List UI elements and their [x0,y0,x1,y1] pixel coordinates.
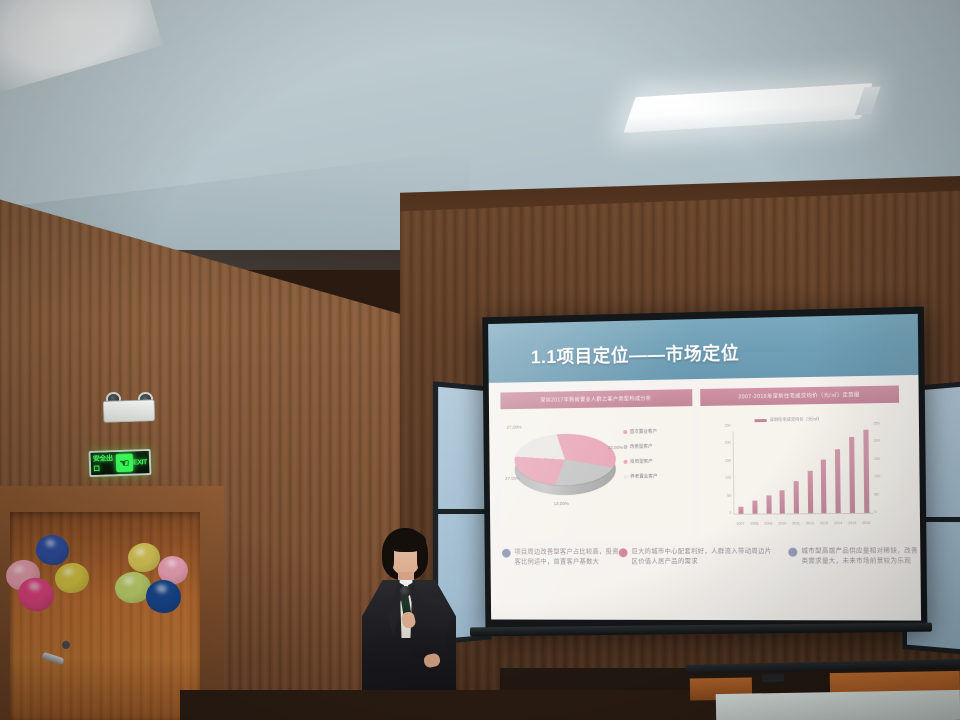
bar-x-tick: 2016 [862,521,870,525]
bar-x-tick: 2008 [750,522,758,526]
desk-object [762,674,784,683]
podium-front-panel [716,690,960,720]
bullet-column-2: 巨大的城市中心配套利好，人群流入带动周边片区价值人居产品的需求 [619,547,779,567]
pie-legend-label-0: 首次置业客户 [630,429,657,435]
bar-x-tick: 2015 [848,521,856,525]
pie-chart: 27.00% 27.00% 13.00% 33.00% [510,417,620,509]
bar-panel-body: 深圳住宅成交均价（元/㎡） 050100150200250 0501001502… [700,403,900,537]
bullet-column-3: 城市型高端产品供应量相对稀缺，改善类需求量大，未来市场前景较为乐观 [788,546,921,567]
floor [180,690,740,720]
bullet-text-3: 城市型高端产品供应量相对稀缺，改善类需求量大，未来市场前景较为乐观 [801,546,921,567]
bar-x-tick: 2013 [820,521,828,525]
bar-2011 [794,481,799,513]
pie-legend: 首次置业客户 改善型客户 投资型客户 [623,429,657,489]
presentation-room-photo: 安全出口 ☜ EXIT 1.1项目定位——市场定位 [0,0,960,720]
pie-label-3: 33.00% [608,445,623,450]
exit-sign-face: 安全出口 ☜ EXIT [91,451,150,475]
bar-chart-x-axis: 2007200820092010201120122013201420152016 [734,521,874,526]
pie-legend-label-1: 改善型客户 [630,444,653,450]
bar-legend-swatch [755,419,767,422]
pie-legend-swatch-2 [624,460,627,464]
pie-panel-body: 27.00% 27.00% 13.00% 33.00% 首次置业客户 [501,406,694,538]
bar-2009 [766,496,771,514]
bar-y-tick: 200 [725,441,731,445]
bar-x-tick: 2014 [834,521,842,525]
bar-y-tick: 0 [729,511,731,515]
bar-y-tick-right: 200 [874,439,880,443]
slide-title: 1.1项目定位——市场定位 [531,339,740,369]
bar-y-tick: 150 [725,458,731,462]
bar-y-tick-right: 50 [874,492,878,496]
bar-y-tick: 250 [724,424,730,428]
bullet-dot-2 [619,548,628,557]
bar-2013 [821,459,827,513]
pie-panel-title: 深圳2017年购房置业人群之客户类型构成分析 [540,395,651,404]
pie-legend-label-2: 投资型客户 [630,459,653,465]
bar-2015 [849,437,855,513]
bar-2016 [863,430,869,513]
pie-legend-swatch-1 [623,445,626,449]
bullet-column-1: 项目周边改善型客户占比较高，投资客比例适中，首置客户基数大 [502,547,625,567]
presenter-hair-left [384,540,394,570]
pie-label-2: 13.00% [554,501,569,506]
bar-panel-title: 2007-2016年深圳住宅成交均价（元/㎡）走势图 [738,391,859,400]
door-lock [62,641,70,649]
whiteboard-divider-left [438,509,487,514]
pie-label-1: 27.00% [505,476,520,481]
bar-y-tick-right: 250 [874,421,880,425]
pie-legend-item: 改善型客户 [623,444,657,450]
projection-screen: 1.1项目定位——市场定位 深圳2017年购房置业人群之客户类型构成分析 27. [488,314,921,621]
bar-x-tick: 2012 [806,521,814,525]
running-man-icon: ☜ [115,454,133,473]
exit-sign: 安全出口 ☜ EXIT [89,449,152,477]
bar-x-tick: 2011 [792,521,800,525]
bar-chart: 深圳住宅成交均价（元/㎡） 050100150200250 0501001502… [710,409,894,531]
bar-y-tick: 100 [725,476,731,480]
bar-y-tick-right: 150 [874,457,880,461]
bar-y-tick: 50 [727,493,731,497]
bar-y-tick-right: 100 [874,474,880,478]
pie-label-0: 27.00% [506,425,521,430]
slide-body: 深圳2017年购房置业人群之客户类型构成分析 27.00% 27.00% 13.… [489,375,921,621]
bar-panel: 2007-2016年深圳住宅成交均价（元/㎡）走势图 深圳住宅成交均价（元/㎡）… [700,385,900,537]
bar-x-tick: 2009 [764,522,772,526]
bar-chart-y-axis: 050100150200250 [715,428,734,515]
bullet-dot-3 [788,548,797,557]
pie-legend-label-3: 养老置业客户 [630,473,657,479]
bullet-text-2: 巨大的城市中心配套利好，人群流入带动周边片区价值人居产品的需求 [631,547,778,567]
emergency-light-box [103,399,156,423]
exit-sign-label-cn: 安全出口 [93,453,116,474]
bar-chart-y-axis-right: 050100150200250 [873,425,892,514]
bullet-text-1: 项目周边改善型客户占比较高，投资客比例适中，首置客户基数大 [514,547,624,567]
bar-legend-label: 深圳住宅成交均价（元/㎡） [770,416,822,423]
pie-legend-item: 投资型客户 [624,459,658,465]
bar-2008 [752,501,757,514]
bar-chart-plot-area [733,430,874,515]
pie-legend-swatch-3 [624,475,627,479]
slide-bullets: 项目周边改善型客户占比较高，投资客比例适中，首置客户基数大 巨大的城市中心配套利… [502,546,909,616]
bar-x-tick: 2010 [778,521,786,525]
bar-2010 [780,490,785,513]
pie-legend-swatch-0 [623,430,626,434]
bar-y-tick-right: 0 [874,510,876,514]
bullet-dot-1 [502,549,511,558]
exit-sign-label-en: EXIT [133,459,147,466]
bar-legend: 深圳住宅成交均价（元/㎡） [755,416,822,423]
bar-2014 [835,449,841,513]
bar-2012 [807,471,813,513]
projection-screen-frame: 1.1项目定位——市场定位 深圳2017年购房置业人群之客户类型构成分析 27. [482,307,927,631]
pie-panel: 深圳2017年购房置业人群之客户类型构成分析 27.00% 27.00% 13.… [500,389,693,538]
slide-title-marker [724,353,728,357]
pie-legend-item: 养老置业客户 [624,473,658,479]
bar-2007 [739,506,744,514]
presenter-hair-right [417,540,427,570]
slide: 1.1项目定位——市场定位 深圳2017年购房置业人群之客户类型构成分析 27. [488,314,921,621]
bar-x-tick: 2007 [736,522,744,526]
pie-legend-item: 首次置业客户 [623,429,657,435]
